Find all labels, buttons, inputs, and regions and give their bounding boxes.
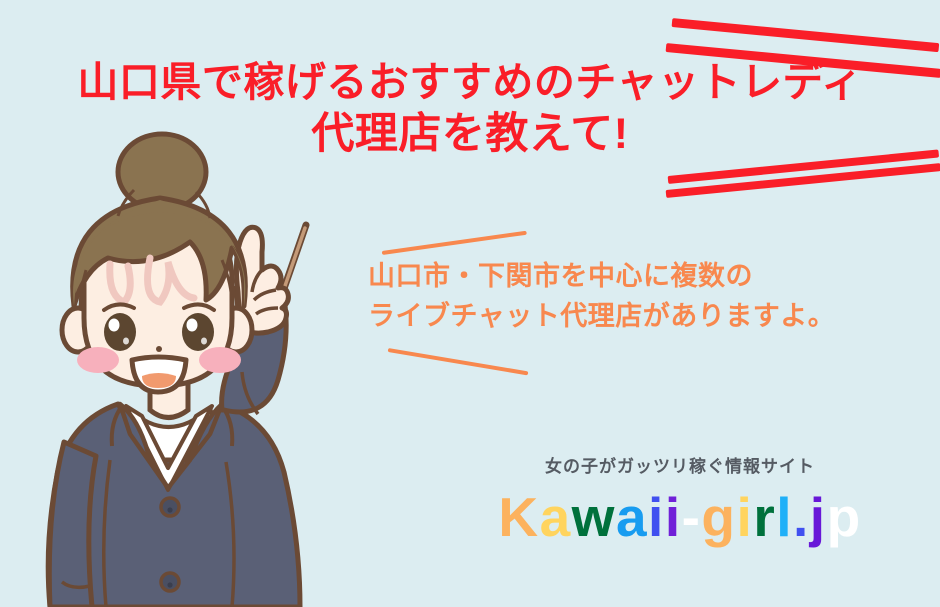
logo-letter-3: a xyxy=(616,484,648,550)
logo-letter-2: w xyxy=(572,484,616,550)
orange-accent-line-top xyxy=(382,231,527,255)
eye-left xyxy=(104,313,136,351)
logo-letter-12: j xyxy=(810,484,827,550)
eye-right xyxy=(182,313,214,351)
promo-banner: 山口県で稼げるおすすめのチャットレディ 代理店を教えて! 山口市・下関市を中心に… xyxy=(0,0,940,607)
headline-line-1: 山口県で稼げるおすすめのチャットレディ xyxy=(0,56,940,108)
subheadline: 山口市・下関市を中心に複数の ライブチャット代理店がありますよ。 xyxy=(368,256,835,336)
logo-letter-13: p xyxy=(827,484,862,550)
jacket-button-lower xyxy=(161,573,179,591)
subheadline-line-2: ライブチャット代理店がありますよ。 xyxy=(368,296,835,336)
logo-letter-10: l xyxy=(776,484,793,550)
blush-right xyxy=(199,347,241,373)
logo-letter-4: i xyxy=(648,484,665,550)
logo-letter-5: i xyxy=(665,484,682,550)
logo-letter-11: . xyxy=(793,484,810,550)
orange-accent-line-bottom xyxy=(388,348,529,375)
head xyxy=(62,134,252,392)
business-woman-illustration xyxy=(0,120,400,607)
subheadline-line-1: 山口市・下関市を中心に複数の xyxy=(368,256,835,296)
logo-letter-1: a xyxy=(540,484,572,550)
logo-letter-7: g xyxy=(701,484,736,550)
logo-letter-0: K xyxy=(498,484,539,550)
site-tagline: 女の子がガッツリ稼ぐ情報サイト xyxy=(500,452,860,477)
blush-left xyxy=(77,347,119,373)
logo-letter-6: - xyxy=(682,484,702,550)
jacket-button-upper xyxy=(161,498,179,516)
site-logo: Kawaii-girl.jp xyxy=(452,484,908,550)
logo-letter-9: r xyxy=(753,484,776,550)
logo-letter-8: i xyxy=(737,484,754,550)
